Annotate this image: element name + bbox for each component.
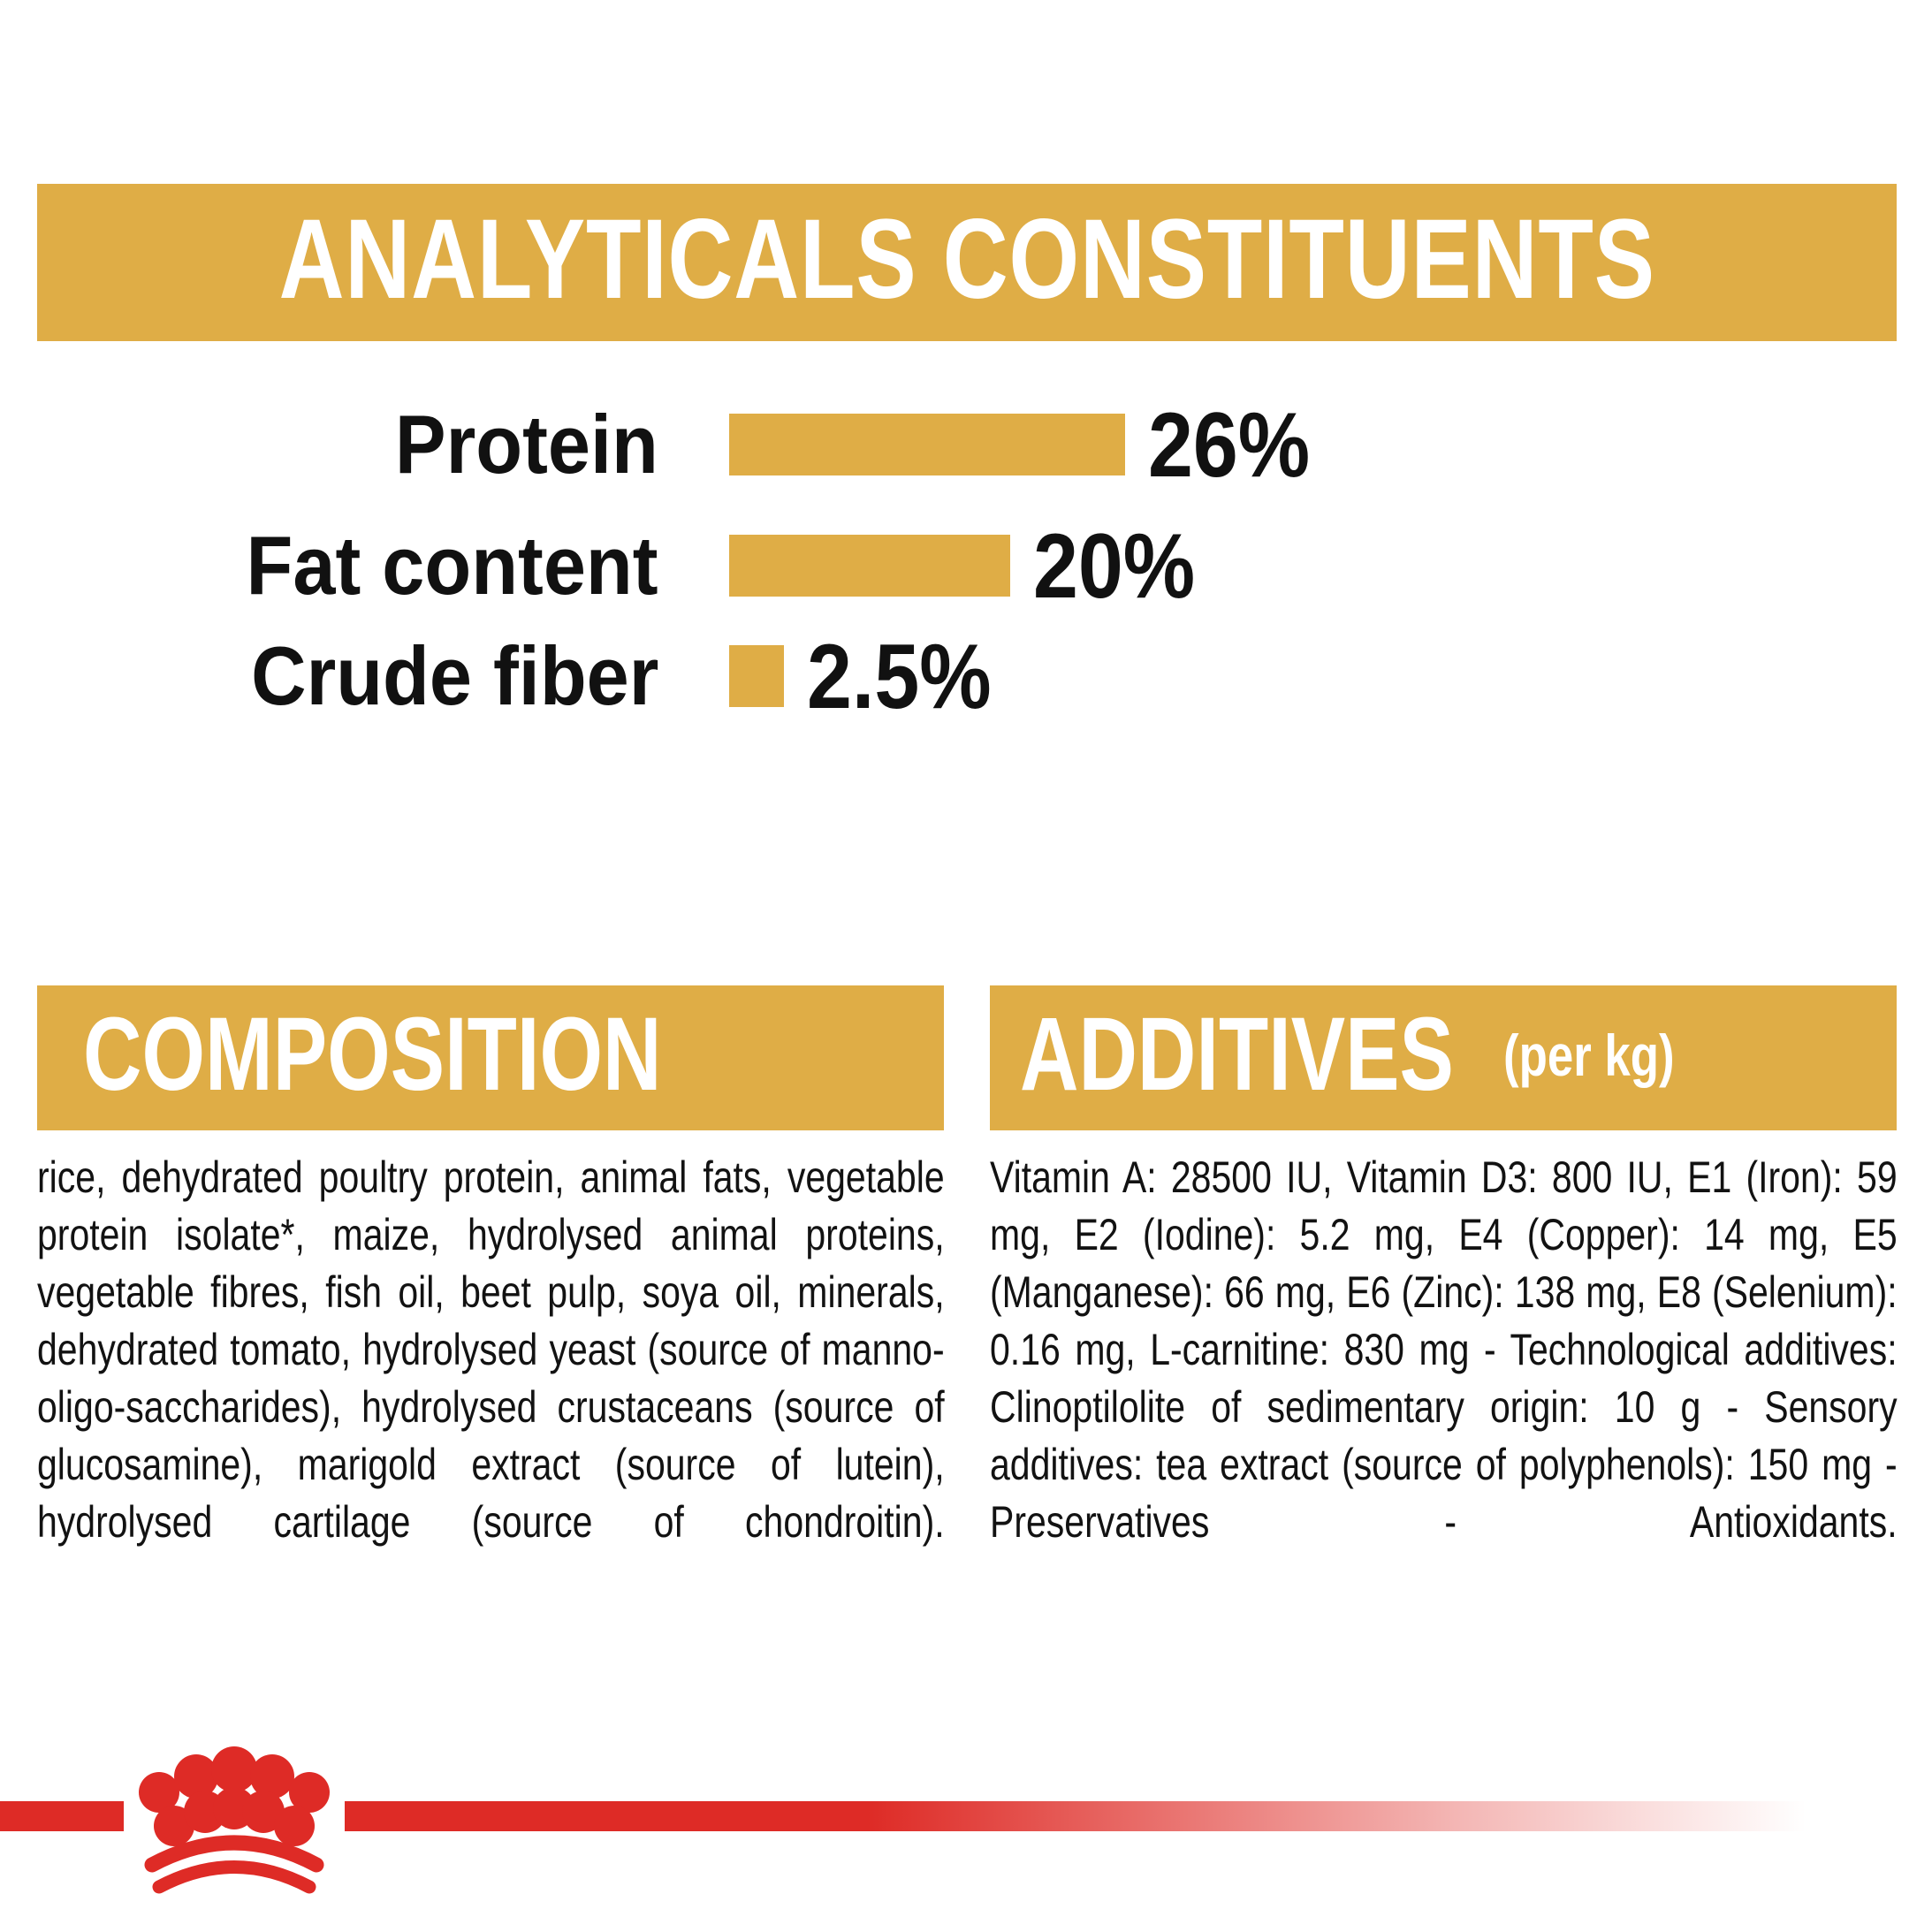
chart-bar-fat-content — [729, 535, 1010, 597]
chart-bar-crude-fiber — [729, 645, 784, 707]
composition-title: COMPOSITION — [83, 1002, 662, 1114]
footer-rule-left — [0, 1801, 124, 1831]
composition-banner: COMPOSITION — [37, 985, 944, 1130]
additives-title: ADDITIVES — [1020, 1002, 1454, 1114]
royal-canin-crown-logo — [124, 1730, 345, 1898]
composition-body-text: rice, dehydrated poultry protein, animal… — [37, 1149, 945, 1551]
chart-row-crude-fiber: Crude fiber 2.5% — [0, 628, 1932, 725]
chart-value-crude-fiber: 2.5% — [807, 631, 992, 723]
footer — [0, 1723, 1932, 1932]
chart-bar-protein — [729, 414, 1125, 475]
chart-label-crude-fiber: Crude fiber — [251, 635, 658, 718]
chart-row-fat-content: Fat content 20% — [0, 517, 1932, 614]
footer-rule-right — [345, 1801, 1883, 1831]
chart-label-protein: Protein — [395, 403, 658, 486]
chart-value-protein: 26% — [1148, 399, 1310, 491]
chart-value-fat-content: 20% — [1033, 521, 1195, 612]
analyticals-constituents-chart: Protein 26% Fat content 20% Crude fiber … — [0, 389, 1932, 742]
analyticals-constituents-banner: ANALYTICALS CONSTITUENTS — [37, 184, 1897, 341]
additives-banner: ADDITIVES (per kg) — [990, 985, 1897, 1130]
page-title: ANALYTICALS CONSTITUENTS — [278, 203, 1654, 322]
chart-row-protein: Protein 26% — [0, 396, 1932, 493]
additives-body-text: Vitamin A: 28500 IU, Vitamin D3: 800 IU,… — [990, 1149, 1898, 1551]
chart-label-fat-content: Fat content — [247, 524, 658, 607]
additives-per-kg-label: (per kg) — [1503, 1026, 1675, 1090]
